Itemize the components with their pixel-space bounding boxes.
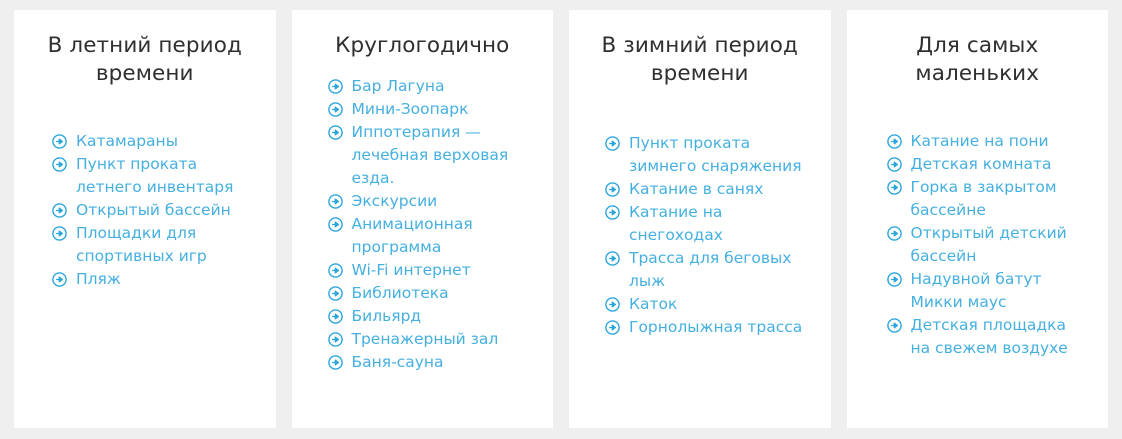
- list-item[interactable]: Площадки для спортивных игр: [52, 222, 258, 268]
- list-item[interactable]: Катание в санях: [605, 178, 813, 201]
- list-item-label: Wi-Fi интернет: [352, 259, 536, 282]
- list-item-label: Горнолыжная трасса: [629, 316, 813, 339]
- card-title: В зимний период времени: [587, 32, 813, 88]
- list-item[interactable]: Трасса для беговых лыж: [605, 247, 813, 293]
- list-item[interactable]: Открытый детский бассейн: [887, 222, 1091, 268]
- list-item-label: Катамараны: [76, 130, 258, 153]
- card-title: В летний период времени: [32, 32, 258, 88]
- list-item-label: Каток: [629, 293, 813, 316]
- circle-arrow-right-icon: [887, 272, 902, 287]
- circle-arrow-right-icon: [605, 297, 620, 312]
- circle-arrow-right-icon: [52, 272, 67, 287]
- list-item-label: Экскурсии: [352, 190, 536, 213]
- circle-arrow-right-icon: [328, 102, 343, 117]
- list-item-label: Катание на пони: [911, 130, 1091, 153]
- services-list-summer: Катамараны Пункт проката летнего инвента…: [32, 130, 258, 291]
- circle-arrow-right-icon: [605, 182, 620, 197]
- circle-arrow-right-icon: [52, 203, 67, 218]
- list-item-label: Пункт проката летнего инвентаря: [76, 153, 258, 199]
- list-item[interactable]: Открытый бассейн: [52, 199, 258, 222]
- list-item[interactable]: Wi-Fi интернет: [328, 259, 536, 282]
- list-item[interactable]: Экскурсии: [328, 190, 536, 213]
- circle-arrow-right-icon: [328, 332, 343, 347]
- circle-arrow-right-icon: [328, 355, 343, 370]
- circle-arrow-right-icon: [52, 134, 67, 149]
- circle-arrow-right-icon: [328, 217, 343, 232]
- circle-arrow-right-icon: [328, 125, 343, 140]
- list-item-label: Горка в закрытом бассейне: [911, 176, 1091, 222]
- circle-arrow-right-icon: [605, 320, 620, 335]
- circle-arrow-right-icon: [887, 318, 902, 333]
- list-item[interactable]: Надувной батут Микки маус: [887, 268, 1091, 314]
- circle-arrow-right-icon: [605, 251, 620, 266]
- list-item[interactable]: Библиотека: [328, 282, 536, 305]
- services-list-year-round: Бар Лагуна Мини-Зоопарк Иппотерапия — ле…: [310, 75, 536, 374]
- circle-arrow-right-icon: [887, 134, 902, 149]
- list-item[interactable]: Катание на снегоходах: [605, 201, 813, 247]
- circle-arrow-right-icon: [887, 180, 902, 195]
- list-item-label: Бар Лагуна: [352, 75, 536, 98]
- list-item-label: Мини-Зоопарк: [352, 98, 536, 121]
- list-item-label: Баня-сауна: [352, 351, 536, 374]
- list-item-label: Открытый детский бассейн: [911, 222, 1091, 268]
- circle-arrow-right-icon: [605, 136, 620, 151]
- list-item-label: Анимационная программа: [352, 213, 536, 259]
- list-item[interactable]: Катание на пони: [887, 130, 1091, 153]
- circle-arrow-right-icon: [328, 263, 343, 278]
- list-item-label: Катание на снегоходах: [629, 201, 813, 247]
- list-item-label: Трасса для беговых лыж: [629, 247, 813, 293]
- card-title: Для самых маленьких: [865, 32, 1091, 88]
- list-item[interactable]: Каток: [605, 293, 813, 316]
- services-card-kids: Для самых маленьких Катание на пони Детс…: [847, 10, 1109, 428]
- list-item-label: Открытый бассейн: [76, 199, 258, 222]
- list-item[interactable]: Иппотерапия — лечебная верховая езда.: [328, 121, 536, 190]
- list-item-label: Площадки для спортивных игр: [76, 222, 258, 268]
- list-item[interactable]: Анимационная программа: [328, 213, 536, 259]
- list-item[interactable]: Баня-сауна: [328, 351, 536, 374]
- list-item[interactable]: Пункт проката зимнего снаряжения: [605, 132, 813, 178]
- circle-arrow-right-icon: [887, 157, 902, 172]
- list-item[interactable]: Горнолыжная трасса: [605, 316, 813, 339]
- services-list-winter: Пункт проката зимнего снаряжения Катание…: [587, 132, 813, 339]
- circle-arrow-right-icon: [328, 79, 343, 94]
- list-item[interactable]: Пляж: [52, 268, 258, 291]
- services-card-summer: В летний период времени Катамараны Пункт…: [14, 10, 276, 428]
- circle-arrow-right-icon: [887, 226, 902, 241]
- circle-arrow-right-icon: [52, 157, 67, 172]
- list-item-label: Детская комната: [911, 153, 1091, 176]
- list-item-label: Бильярд: [352, 305, 536, 328]
- list-item-label: Иппотерапия — лечебная верховая езда.: [352, 121, 536, 190]
- list-item-label: Надувной батут Микки маус: [911, 268, 1091, 314]
- list-item[interactable]: Пункт проката летнего инвентаря: [52, 153, 258, 199]
- list-item-label: Детская площадка на свежем воздухе: [911, 314, 1091, 360]
- list-item-label: Пляж: [76, 268, 258, 291]
- list-item-label: Катание в санях: [629, 178, 813, 201]
- circle-arrow-right-icon: [328, 286, 343, 301]
- list-item[interactable]: Детская комната: [887, 153, 1091, 176]
- list-item-label: Тренажерный зал: [352, 328, 536, 351]
- circle-arrow-right-icon: [605, 205, 620, 220]
- services-card-year-round: Круглогодично Бар Лагуна Мини-Зоопарк Ип…: [292, 10, 554, 428]
- list-item[interactable]: Детская площадка на свежем воздухе: [887, 314, 1091, 360]
- circle-arrow-right-icon: [328, 194, 343, 209]
- circle-arrow-right-icon: [52, 226, 67, 241]
- list-item[interactable]: Мини-Зоопарк: [328, 98, 536, 121]
- services-columns-board: В летний период времени Катамараны Пункт…: [0, 0, 1122, 439]
- list-item[interactable]: Горка в закрытом бассейне: [887, 176, 1091, 222]
- list-item-label: Библиотека: [352, 282, 536, 305]
- list-item[interactable]: Тренажерный зал: [328, 328, 536, 351]
- list-item-label: Пункт проката зимнего снаряжения: [629, 132, 813, 178]
- list-item[interactable]: Катамараны: [52, 130, 258, 153]
- card-title: Круглогодично: [310, 32, 536, 60]
- services-list-kids: Катание на пони Детская комната Горка в …: [865, 130, 1091, 360]
- list-item[interactable]: Бильярд: [328, 305, 536, 328]
- services-card-winter: В зимний период времени Пункт проката зи…: [569, 10, 831, 428]
- list-item[interactable]: Бар Лагуна: [328, 75, 536, 98]
- circle-arrow-right-icon: [328, 309, 343, 324]
